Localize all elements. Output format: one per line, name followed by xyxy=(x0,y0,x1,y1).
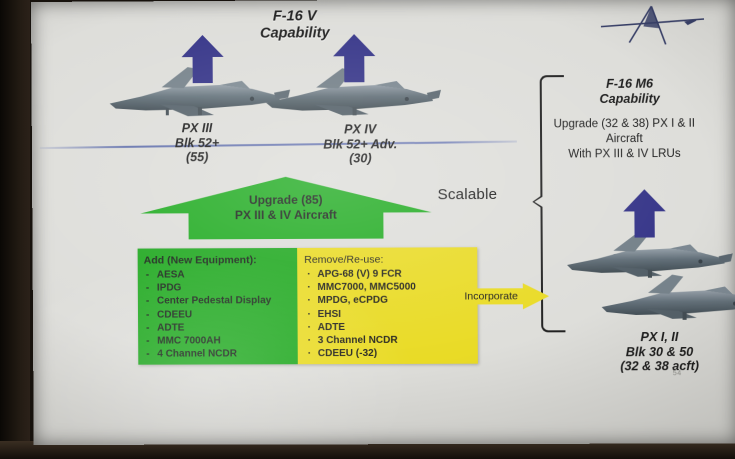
list-item: MPDG, eCPDG xyxy=(304,294,477,308)
list-item: APG-68 (V) 9 FCR xyxy=(304,267,477,281)
list-item: ADTE xyxy=(305,320,478,334)
equipment-comparison-panel: Add (New Equipment): AESA IPDG Center Pe… xyxy=(138,247,478,364)
slide-page-number: 54 xyxy=(673,370,682,377)
px-iv-line2: Blk 52+ Adv. xyxy=(297,137,423,152)
aircraft-label-px-i-ii: PX I, II Blk 30 & 50 (32 & 38 acft) xyxy=(584,330,735,374)
incorporate-label: Incorporate xyxy=(464,290,518,302)
add-equipment-heading: Add (New Equipment): xyxy=(144,254,298,267)
list-item: ADTE xyxy=(144,321,298,335)
slide-canvas: F-16 V Capability xyxy=(31,0,735,445)
projected-slide-photo: F-16 V Capability xyxy=(0,0,735,459)
px-i-ii-line2: Blk 30 & 50 xyxy=(584,344,735,359)
px-iii-line3: (55) xyxy=(142,150,252,165)
px-iv-line3: (30) xyxy=(298,151,424,166)
scalable-bracket-notch xyxy=(532,195,544,209)
list-item: MMC 7000AH xyxy=(144,334,298,348)
upgrade-arrow-icon-px-i-ii xyxy=(623,189,666,237)
remove-reuse-heading: Remove/Re-use: xyxy=(304,253,477,266)
px-i-ii-line1: PX I, II xyxy=(584,330,735,345)
list-item: CDEEU xyxy=(144,308,298,322)
add-equipment-list: AESA IPDG Center Pedestal Display CDEEU … xyxy=(144,268,298,361)
list-item: EHSI xyxy=(304,307,477,321)
upgrade-arrow-line1: Upgrade (85) xyxy=(140,192,431,208)
list-item: IPDG xyxy=(144,281,298,295)
horizontal-divider xyxy=(40,141,517,149)
remove-reuse-equipment-box: Remove/Re-use: APG-68 (V) 9 FCR MMC7000,… xyxy=(297,247,478,364)
list-item: Center Pedestal Display xyxy=(144,294,298,308)
scalable-label: Scalable xyxy=(438,186,498,203)
px-iii-line2: Blk 52+ xyxy=(142,135,252,150)
list-item: 3 Channel NCDR xyxy=(305,334,478,348)
aircraft-photo-px-ii xyxy=(595,271,735,328)
room-left-edge xyxy=(0,0,30,459)
aircraft-label-px-iv: PX IV Blk 52+ Adv. (30) xyxy=(297,122,423,166)
list-item: 4 Channel NCDR xyxy=(144,347,298,361)
upgrade-arrow-icon-px-iii xyxy=(181,35,223,83)
upgrade-banner-arrow: Upgrade (85) PX III & IV Aircraft xyxy=(140,176,432,239)
px-i-ii-line3: (32 & 38 acft) xyxy=(584,359,735,374)
upgrade-arrow-text: Upgrade (85) PX III & IV Aircraft xyxy=(140,192,431,223)
list-item: AESA xyxy=(144,268,298,282)
upgrade-arrow-line2: PX III & IV Aircraft xyxy=(140,207,431,223)
remove-reuse-list: APG-68 (V) 9 FCR MMC7000, MMC5000 MPDG, … xyxy=(304,267,478,360)
slide-title-line1: F-16 V xyxy=(209,8,380,26)
add-equipment-box: Add (New Equipment): AESA IPDG Center Pe… xyxy=(138,248,298,365)
lockheed-martin-star-icon xyxy=(599,2,710,49)
upgrade-arrow-icon-px-iv xyxy=(333,34,376,82)
incorporate-arrow-head xyxy=(523,283,549,309)
list-item: MMC7000, MMC5000 xyxy=(304,281,477,295)
list-item: CDEEU (-32) xyxy=(305,347,478,361)
aircraft-label-px-iii: PX III Blk 52+ (55) xyxy=(142,121,253,165)
